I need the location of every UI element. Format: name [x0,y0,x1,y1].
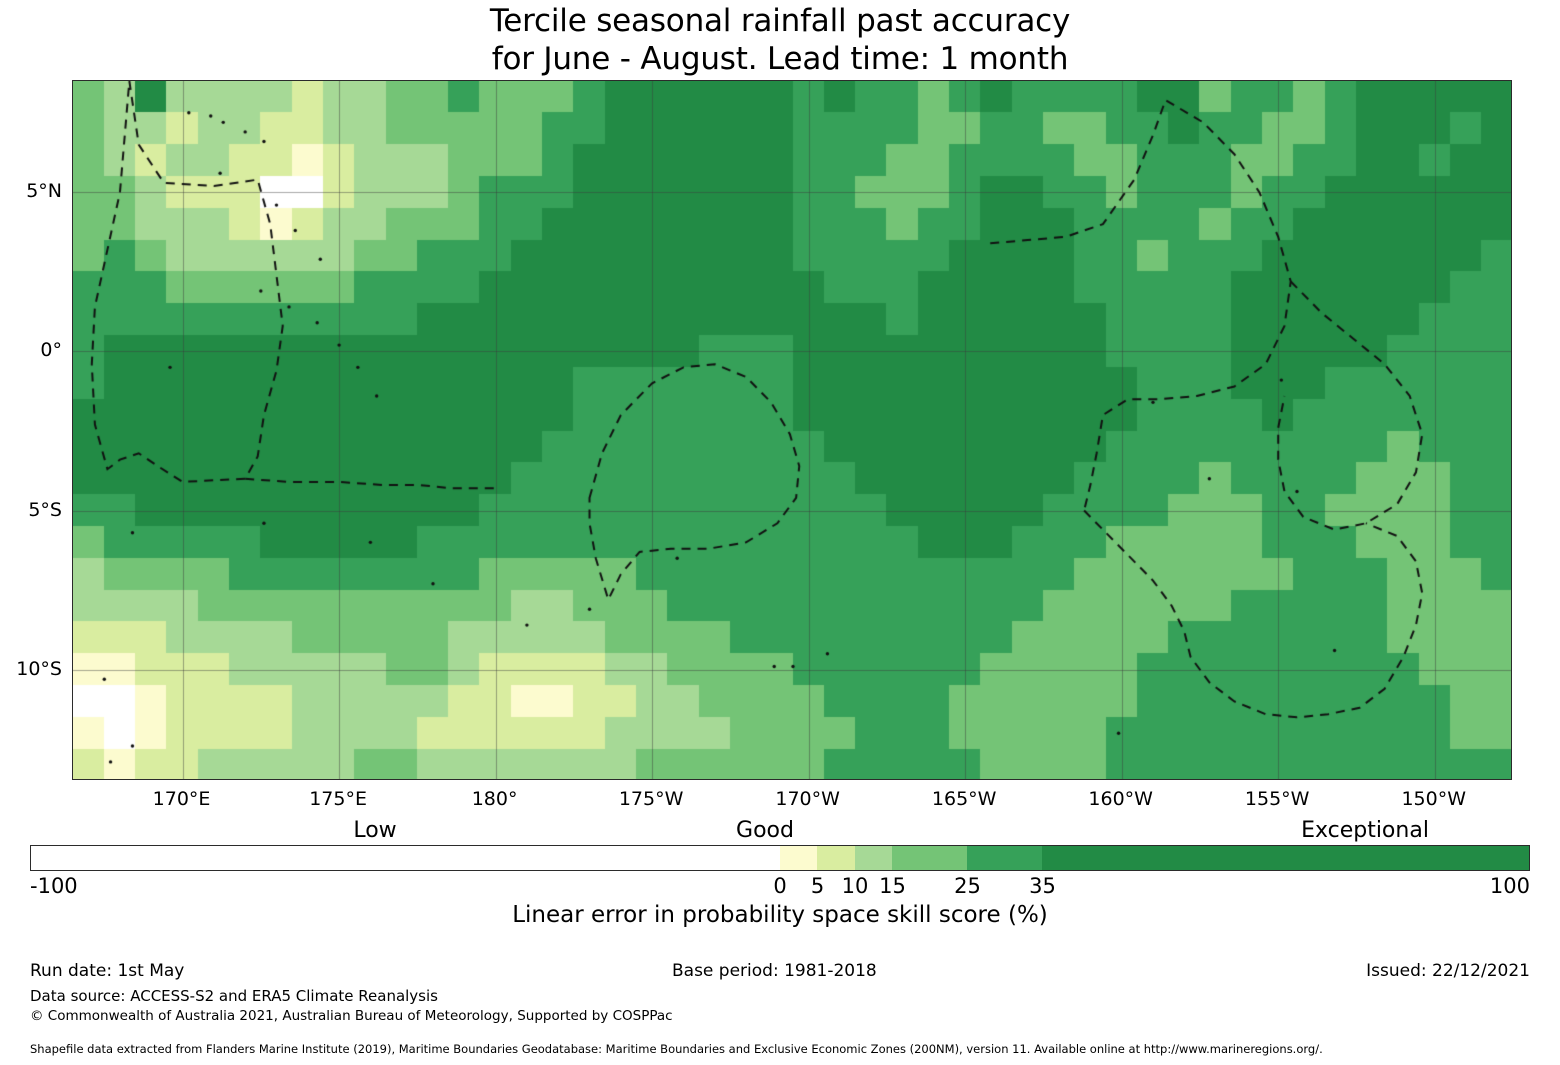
colorbar-segment [855,846,892,870]
colorbar-tick-label: 0 [773,874,786,898]
colorbar [30,845,1530,871]
colorbar-tick-label: 5 [811,874,824,898]
latitude-tick-label: 10°S [0,658,62,680]
colorbar-tick-label: 10 [842,874,869,898]
longitude-tick-label: 170°E [153,788,211,810]
footer-issued-date: Issued: 22/12/2021 [1366,961,1530,981]
latitude-tick-label: 5°N [0,180,62,202]
colorbar-tick-label: 35 [1029,874,1056,898]
colorbar-category-label: Good [736,818,794,843]
colorbar-category-label: Exceptional [1301,818,1429,843]
skill-score-heatmap [73,81,1512,780]
longitude-tick-label: 170°W [775,788,840,810]
colorbar-segment [817,846,854,870]
chart-title-line-1: Tercile seasonal rainfall past accuracy [0,0,1560,40]
latitude-tick-label: 5°S [0,499,62,521]
colorbar-segment [31,846,780,870]
longitude-tick-label: 160°W [1088,788,1153,810]
footer-base-period: Base period: 1981-2018 [672,961,877,981]
latitude-tick-label: 0° [0,339,62,361]
map-plot-area [72,80,1512,780]
colorbar-tick-label: 100 [1490,874,1530,898]
footer-run-date: Run date: 1st May [30,961,184,981]
colorbar-tick-label: -100 [30,874,78,898]
colorbar-segment [892,846,967,870]
longitude-tick-label: 180° [472,788,518,810]
chart-title: Tercile seasonal rainfall past accuracy … [0,0,1560,78]
colorbar-tick-label: 15 [879,874,906,898]
longitude-tick-label: 150°W [1401,788,1466,810]
colorbar-tick-label: 25 [954,874,981,898]
longitude-tick-label: 175°E [309,788,367,810]
colorbar-segment [780,846,817,870]
longitude-tick-label: 175°W [619,788,684,810]
colorbar-axis-title: Linear error in probability space skill … [0,902,1560,928]
colorbar-segment [967,846,1042,870]
longitude-tick-label: 155°W [1245,788,1310,810]
footer-data-source: Data source: ACCESS-S2 and ERA5 Climate … [30,987,438,1005]
chart-title-line-2: for June - August. Lead time: 1 month [0,40,1560,78]
footer-shapefile-attribution: Shapefile data extracted from Flanders M… [30,1042,1323,1056]
colorbar-segment [1042,846,1529,870]
colorbar-category-label: Low [353,818,396,843]
footer-copyright: © Commonwealth of Australia 2021, Austra… [30,1008,673,1024]
longitude-tick-label: 165°W [932,788,997,810]
